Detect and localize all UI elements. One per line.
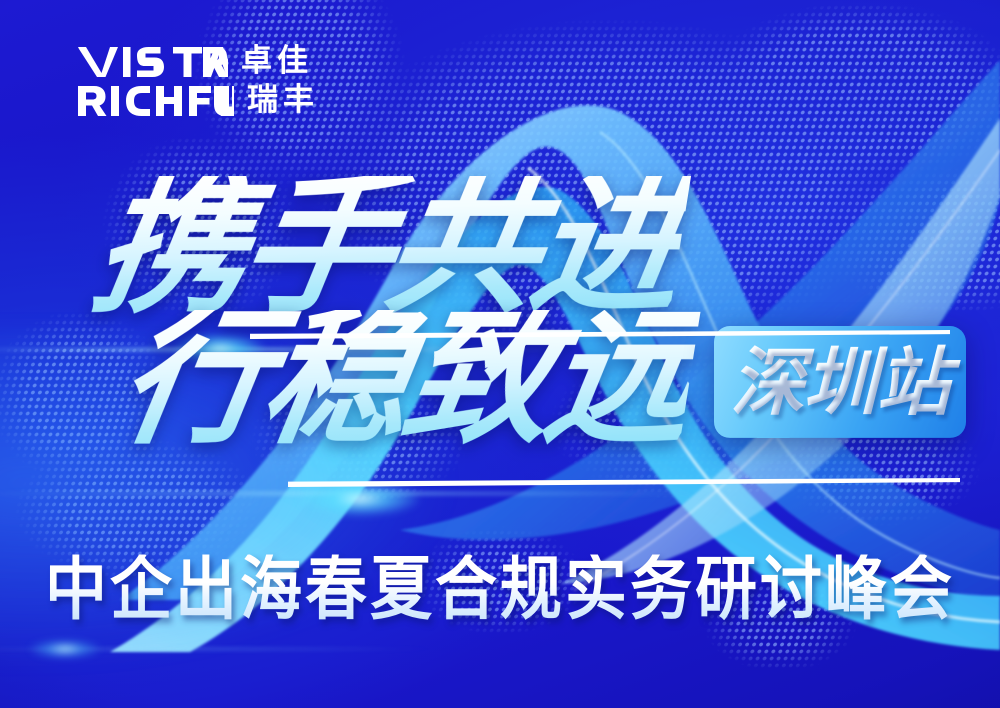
vistra-chinese-name: 卓佳: [241, 46, 313, 77]
vistra-wordmark-icon: [78, 44, 228, 77]
logo-row-richful: 瑞丰: [78, 83, 319, 116]
event-poster: 卓佳: [0, 0, 1000, 708]
brand-logo: 卓佳: [78, 44, 319, 116]
flare-sparkle-bottom: [30, 640, 100, 658]
subtitle-text: 中企出海春夏合规实务研讨峰会: [45, 554, 955, 623]
city-badge: 深圳站: [714, 326, 966, 438]
headline-block: 携手共进 行稳致远 深圳站: [0, 176, 1000, 446]
city-badge-label: 深圳站: [714, 326, 966, 438]
headline-line-2-text: 行稳致远: [111, 310, 701, 446]
headline-line-2: 行稳致远 深圳站: [122, 310, 1000, 446]
subtitle-block: 中企出海春夏合规实务研讨峰会: [0, 558, 1000, 620]
richful-chinese-name: 瑞丰: [247, 85, 319, 116]
flare-sparkle-lower: [300, 482, 420, 516]
richful-wordmark-icon: [78, 83, 234, 116]
logo-row-vistra: 卓佳: [78, 44, 319, 77]
